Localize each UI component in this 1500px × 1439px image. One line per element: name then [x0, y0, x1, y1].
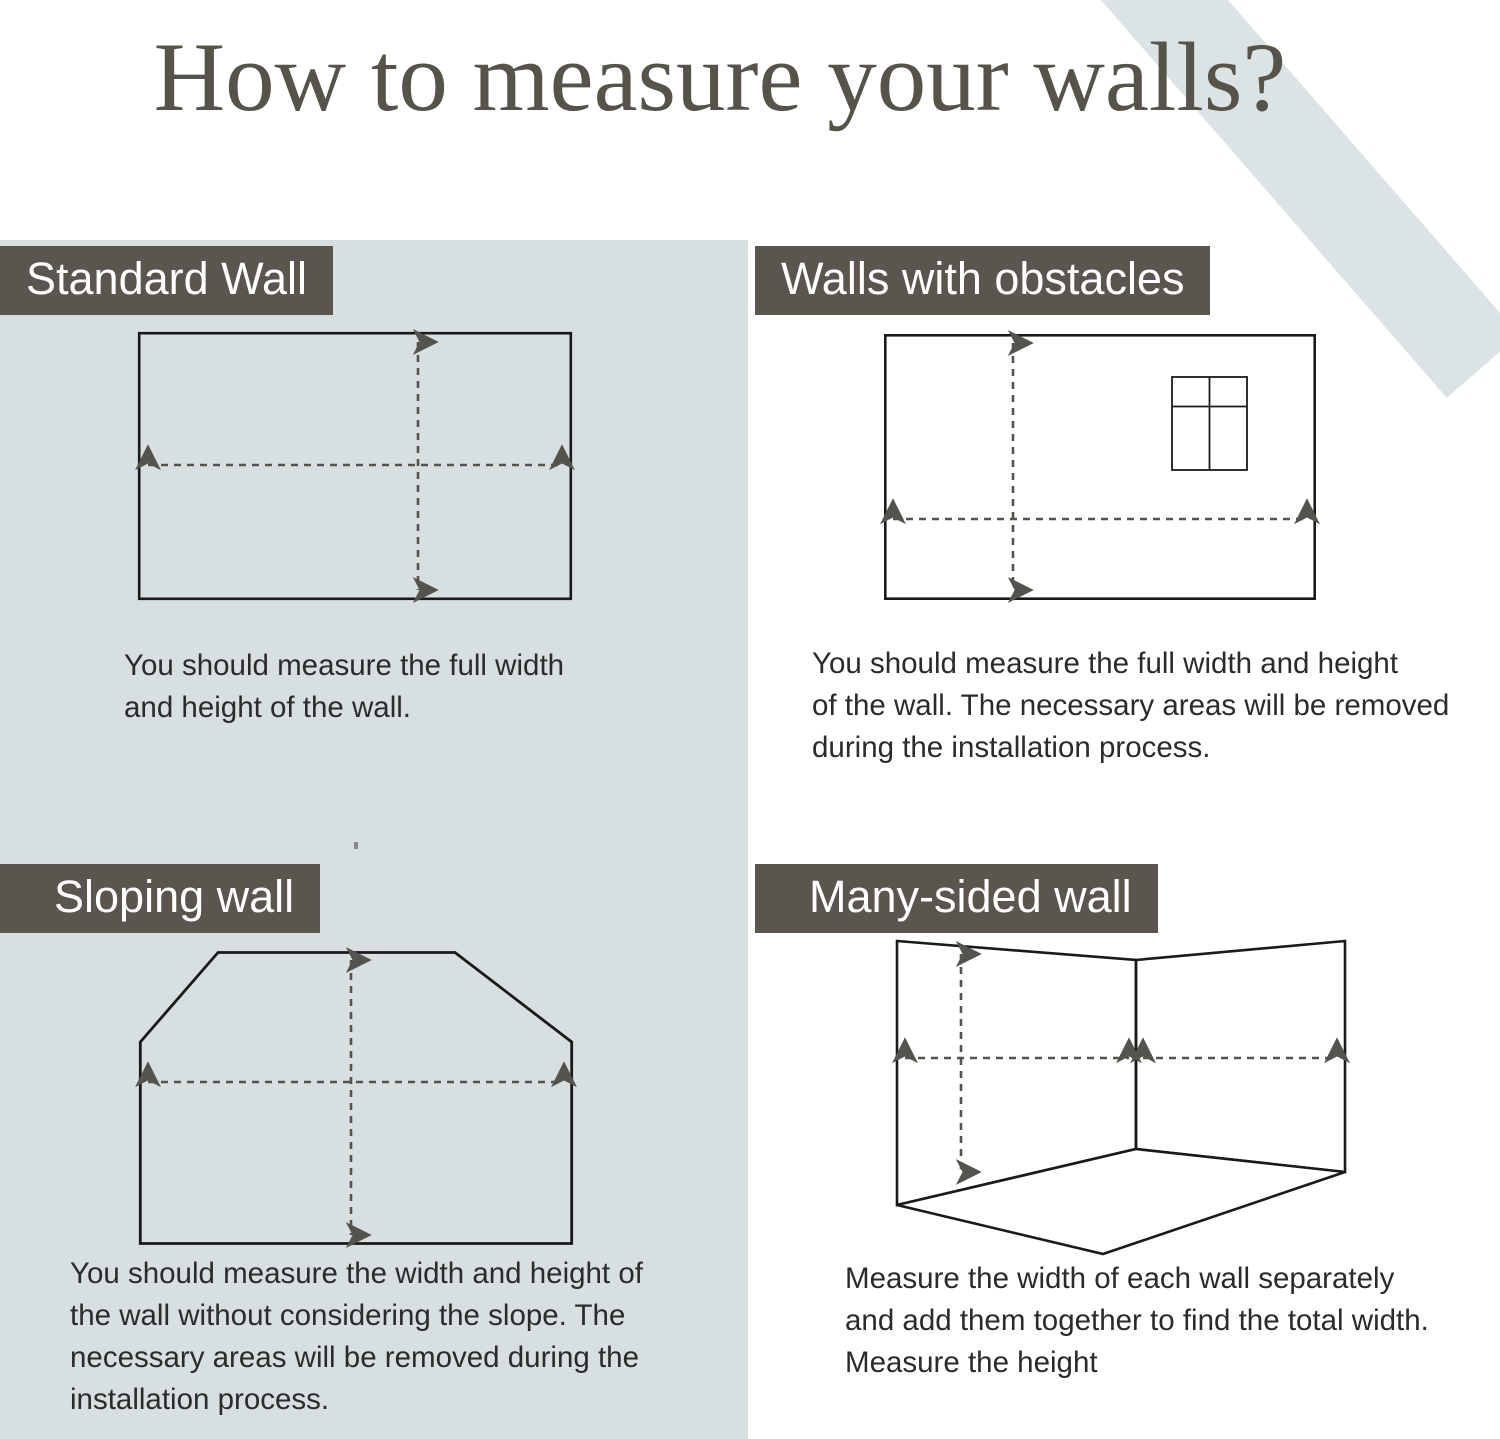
diagram-many-sided-wall	[893, 932, 1353, 1262]
section-header-sloping-wall: Sloping wall	[0, 864, 320, 933]
diagram-standard-wall	[138, 332, 572, 600]
caption-sloping-wall: You should measure the width and height …	[70, 1253, 680, 1421]
diagram-walls-with-obstacles	[884, 334, 1316, 600]
section-header-many-sided-wall: Many-sided wall	[755, 864, 1158, 933]
obstacle-wall-svg	[884, 334, 1316, 600]
section-header-walls-with-obstacles: Walls with obstacles	[755, 246, 1210, 315]
right-wall-face	[1136, 941, 1345, 1172]
caption-many-sided-wall: Measure the width of each wall separatel…	[845, 1258, 1465, 1384]
wall-outline	[140, 953, 571, 1244]
infographic-stage: How to measure your walls? Standard Wall…	[0, 0, 1500, 1439]
standard-wall-svg	[138, 332, 572, 600]
sloping-wall-svg	[139, 951, 573, 1245]
wall-outline	[885, 335, 1314, 598]
corner-room-svg	[893, 932, 1353, 1262]
caption-standard-wall: You should measure the full width and he…	[124, 645, 644, 729]
caption-walls-with-obstacles: You should measure the full width and he…	[812, 643, 1472, 769]
page-title: How to measure your walls?	[0, 26, 1440, 130]
stray-mark	[354, 842, 358, 849]
window-icon	[1172, 377, 1247, 470]
diagram-sloping-wall	[139, 951, 573, 1245]
section-header-standard-wall: Standard Wall	[0, 246, 333, 315]
